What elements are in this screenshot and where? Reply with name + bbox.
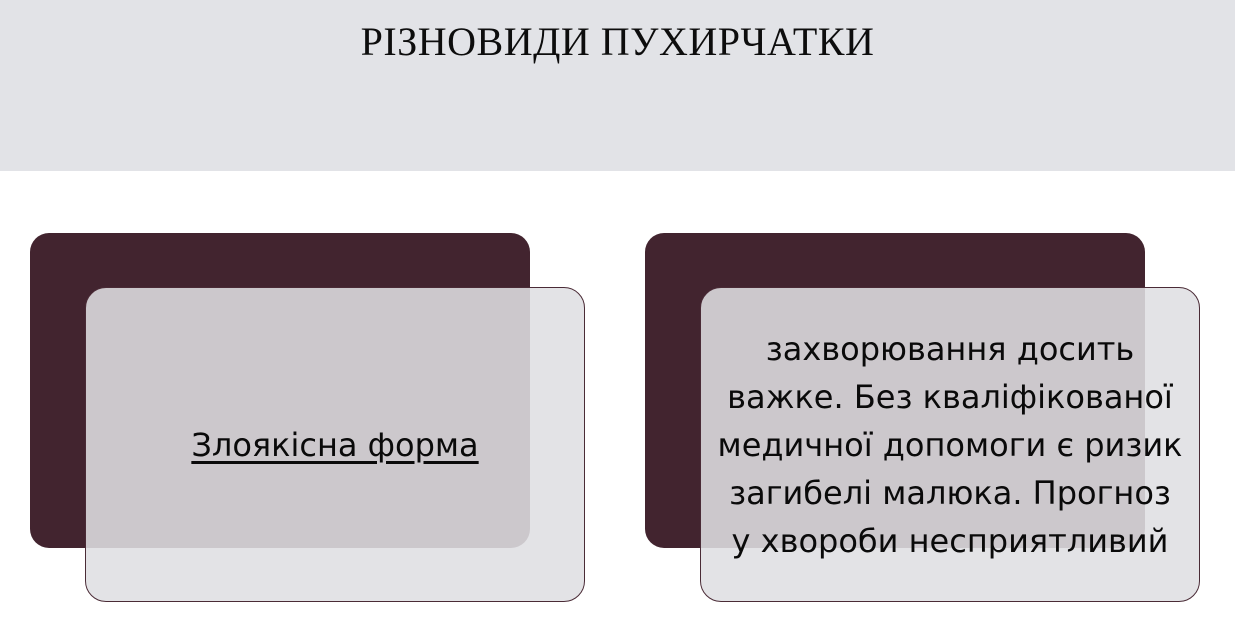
card-prognosis-description[interactable]: захворювання досить важке. Без кваліфіко… [645,233,1201,603]
page-title: РІЗНОВИДИ ПУХИРЧАТКИ [0,18,1235,66]
card-malignant-form[interactable]: Злоякісна форма [30,233,585,602]
card-label: Злоякісна форма [100,421,570,469]
header-band: РІЗНОВИДИ ПУХИРЧАТКИ [0,0,1235,171]
card-front-panel[interactable]: Злоякісна форма [85,287,585,602]
card-front-panel[interactable]: захворювання досить важке. Без кваліфіко… [700,287,1200,602]
card-label: захворювання досить важке. Без кваліфіко… [715,325,1185,565]
